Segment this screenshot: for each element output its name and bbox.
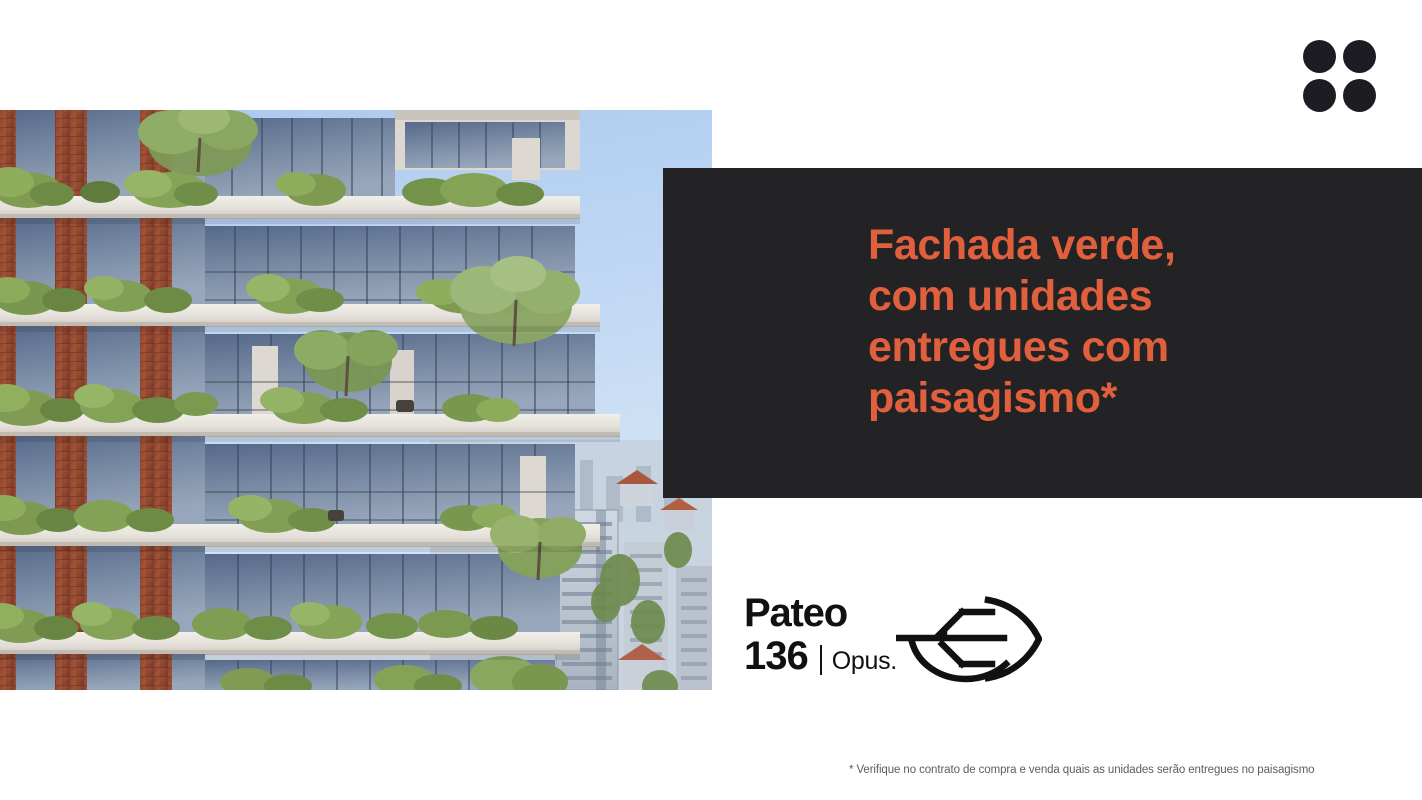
logo-pateo-text: Pateo [744,592,897,634]
building-render-image [0,110,712,690]
four-dot-brand-mark [1303,40,1381,112]
headline-panel: Fachada verde, com unidades entregues co… [663,168,1422,498]
logo-opus-text: Opus. [832,641,897,681]
logo-wordmark: Pateo 136 Opus. [744,592,897,681]
brand-dot-bottom-right [1343,79,1376,112]
headline-text: Fachada verde, com unidades entregues co… [868,220,1176,424]
brand-dot-top-left [1303,40,1336,73]
footer-disclaimer: * Verifique no contrato de compra e vend… [849,764,1409,776]
pateo-136-opus-logo: Pateo 136 Opus. [744,592,1044,688]
brand-dot-bottom-left [1303,79,1336,112]
logo-second-row: 136 Opus. [744,636,897,681]
slide-root: Fachada verde, com unidades entregues co… [0,0,1422,800]
logo-divider [820,645,822,675]
leaf-icon [896,594,1042,684]
brand-dot-top-right [1343,40,1376,73]
logo-136-text: 136 [744,636,808,676]
